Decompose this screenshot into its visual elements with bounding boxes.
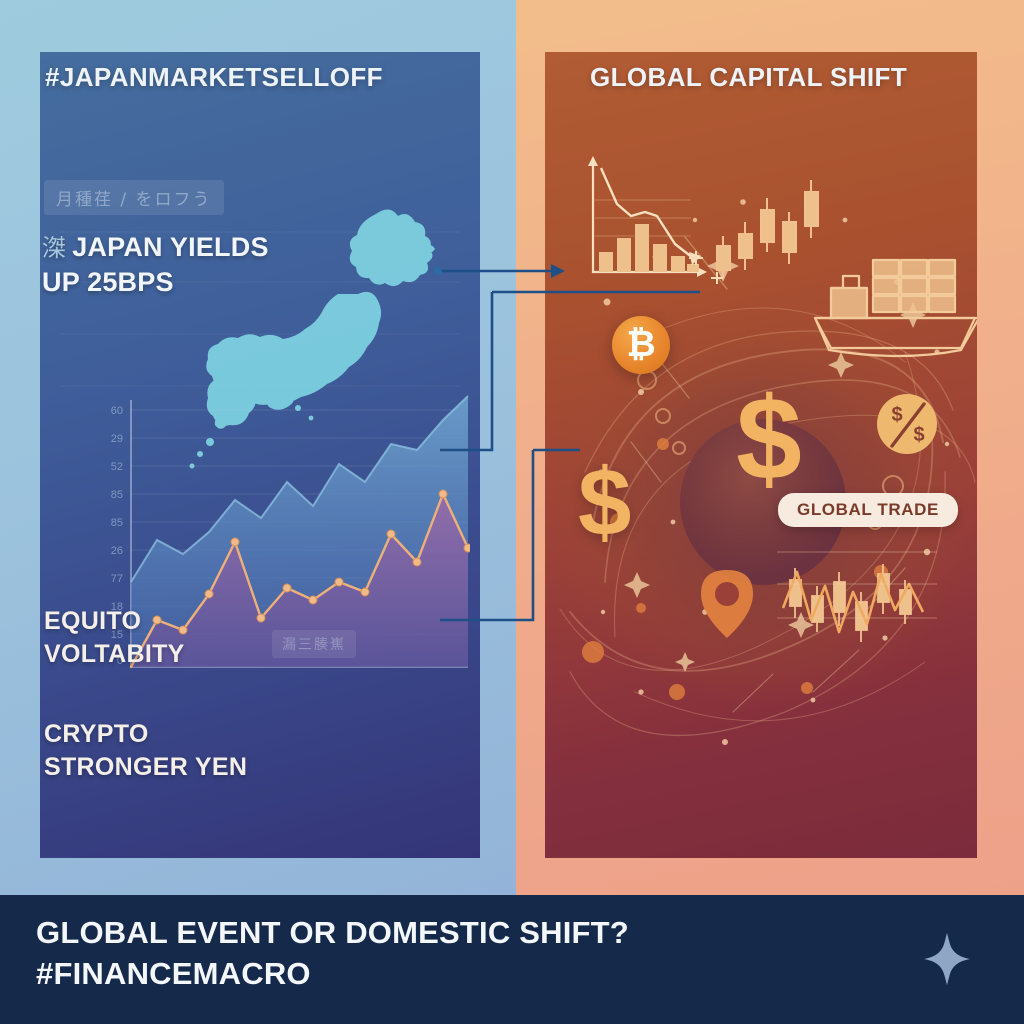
footer-text: GLOBAL EVENT OR DOMESTIC SHIFT? #FINANCE… — [36, 913, 629, 995]
connector-elbow-lower — [440, 450, 533, 620]
sparkle-icon — [924, 933, 970, 985]
footer-line-1: GLOBAL EVENT OR DOMESTIC SHIFT? — [36, 915, 629, 950]
footer-line-2: #FINANCEMACRO — [36, 956, 311, 991]
footer-banner: GLOBAL EVENT OR DOMESTIC SHIFT? #FINANCE… — [0, 895, 1024, 1024]
connector-elbow-middle — [440, 292, 492, 450]
infographic-canvas: 60 29 52 85 85 26 77 18 15 0 — [0, 0, 1024, 1024]
connector-arrows — [0, 0, 1024, 1024]
